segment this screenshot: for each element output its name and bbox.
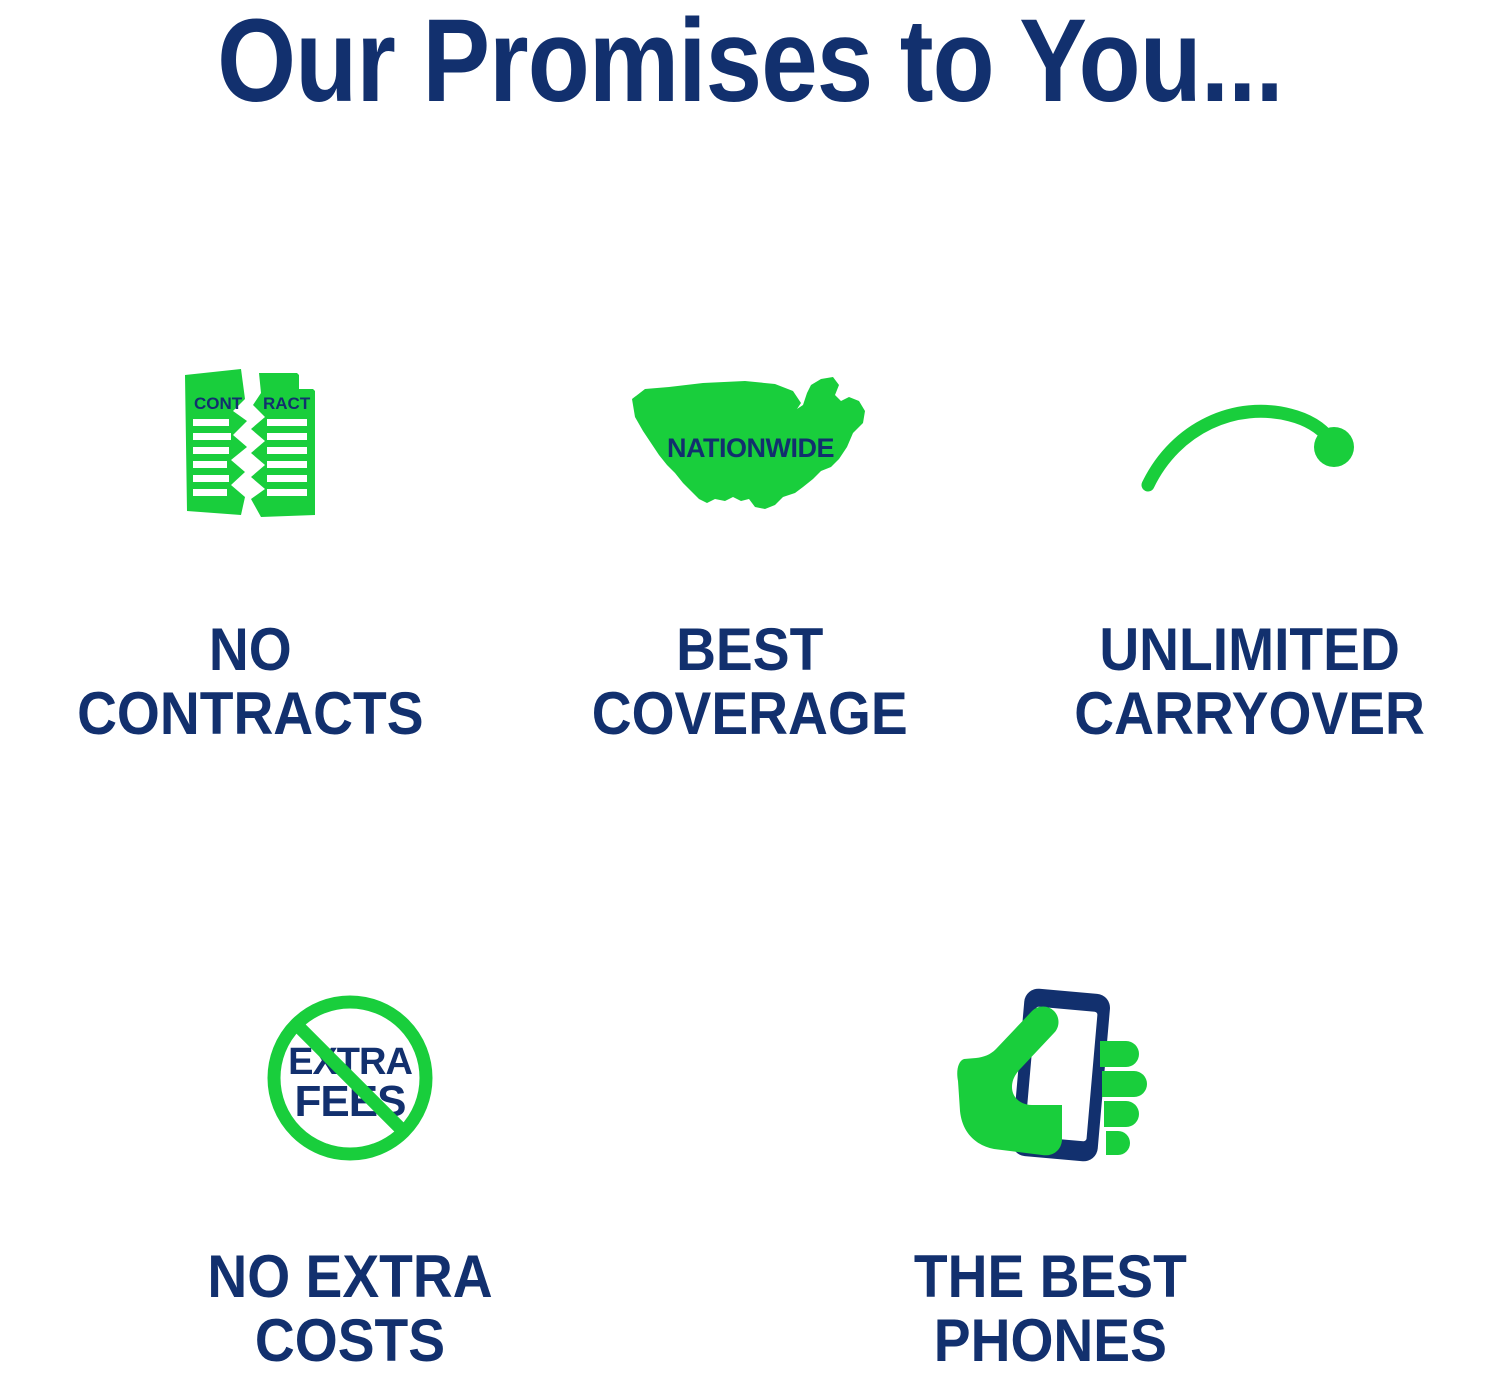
promises-page: Our Promises to You... bbox=[0, 0, 1500, 1367]
promises-row-bottom: EXTRA FEES NO EXTRA COSTS bbox=[0, 960, 1460, 1372]
page-title: Our Promises to You... bbox=[105, 2, 1395, 120]
nationwide-text: NATIONWIDE bbox=[667, 433, 834, 463]
promise-line-1: THE BEST bbox=[914, 1243, 1187, 1310]
promise-label-unlimited-carryover: UNLIMITED CARRYOVER bbox=[1075, 618, 1426, 745]
promise-label-no-extra-costs: NO EXTRA COSTS bbox=[207, 1245, 492, 1372]
no-extra-fees-icon: EXTRA FEES bbox=[260, 960, 440, 1195]
promise-best-coverage[interactable]: NATIONWIDE BEST COVERAGE bbox=[500, 330, 1000, 745]
us-map-nationwide-icon: NATIONWIDE bbox=[625, 330, 875, 560]
promise-no-contracts[interactable]: CONT RACT NO CONTRACTS bbox=[0, 330, 500, 745]
promise-line-2: CARRYOVER bbox=[1075, 682, 1426, 746]
promise-label-no-contracts: NO CONTRACTS bbox=[77, 618, 424, 745]
carryover-arc-icon bbox=[1140, 330, 1360, 560]
promise-line-1: BEST bbox=[676, 616, 823, 683]
contract-text-left: CONT bbox=[194, 394, 243, 413]
promise-no-extra-costs[interactable]: EXTRA FEES NO EXTRA COSTS bbox=[0, 960, 700, 1372]
promise-line-2: CONTRACTS bbox=[77, 682, 424, 746]
hand-holding-phone-icon bbox=[950, 960, 1150, 1195]
promise-the-best-phones[interactable]: THE BEST PHONES bbox=[700, 960, 1400, 1372]
promise-line-1: UNLIMITED bbox=[1100, 616, 1401, 683]
promise-line-2: PHONES bbox=[914, 1309, 1187, 1373]
promise-line-1: NO EXTRA bbox=[207, 1243, 492, 1310]
promise-line-2: COSTS bbox=[207, 1309, 492, 1373]
promise-unlimited-carryover[interactable]: UNLIMITED CARRYOVER bbox=[1000, 330, 1500, 745]
torn-contract-icon: CONT RACT bbox=[175, 330, 325, 560]
promises-row-top: CONT RACT NO CONTRACTS NATIONWIDE BEST C… bbox=[0, 330, 1500, 745]
promise-line-2: COVERAGE bbox=[592, 682, 908, 746]
promise-label-best-coverage: BEST COVERAGE bbox=[592, 618, 908, 745]
contract-text-right: RACT bbox=[263, 394, 311, 413]
promise-line-1: NO bbox=[209, 616, 292, 683]
promise-label-the-best-phones: THE BEST PHONES bbox=[914, 1245, 1187, 1372]
